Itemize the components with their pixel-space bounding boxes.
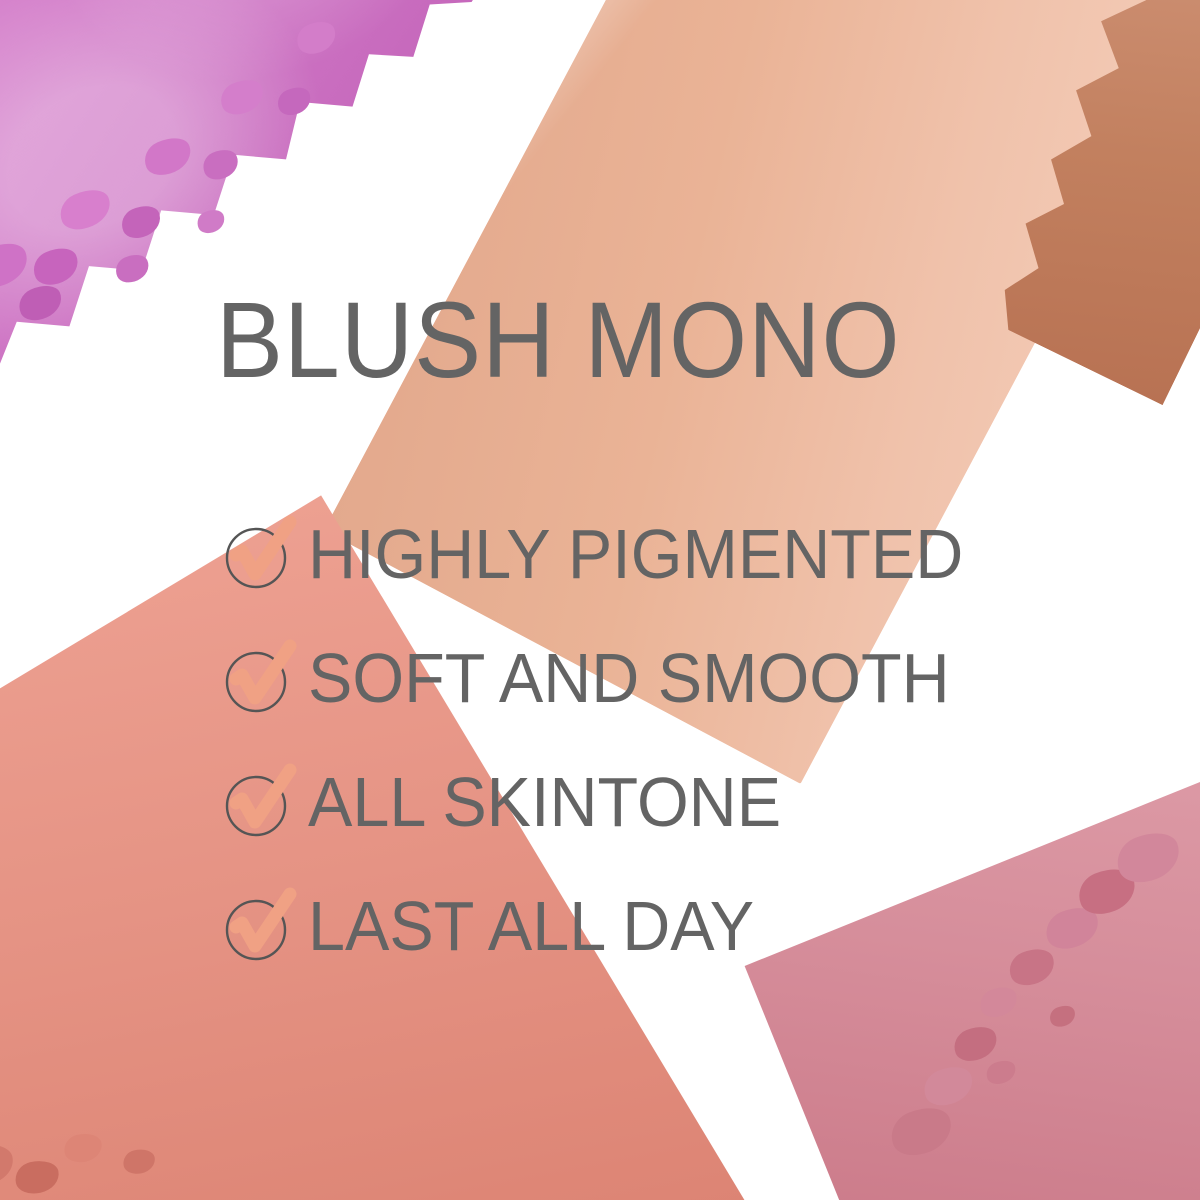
feature-list-item: HIGHLY PIGMENTED <box>222 492 1082 616</box>
feature-label: SOFT AND SMOOTH <box>308 643 950 713</box>
feature-label: HIGHLY PIGMENTED <box>308 519 963 589</box>
check-circle-icon <box>222 884 306 968</box>
feature-list-item: SOFT AND SMOOTH <box>222 616 1082 740</box>
feature-list: HIGHLY PIGMENTED SOFT AND SMOOTH <box>222 492 1082 988</box>
feature-list-item: LAST ALL DAY <box>222 864 1082 988</box>
feature-label: LAST ALL DAY <box>308 891 754 961</box>
content-layer: BLUSH MONO HIGHLY PIGMENTED <box>0 0 1200 1200</box>
feature-label: ALL SKINTONE <box>308 767 781 837</box>
feature-list-item: ALL SKINTONE <box>222 740 1082 864</box>
product-feature-graphic: BLUSH MONO HIGHLY PIGMENTED <box>0 0 1200 1200</box>
check-circle-icon <box>222 760 306 844</box>
page-title: BLUSH MONO <box>216 286 901 394</box>
check-circle-icon <box>222 636 306 720</box>
check-circle-icon <box>222 512 306 596</box>
